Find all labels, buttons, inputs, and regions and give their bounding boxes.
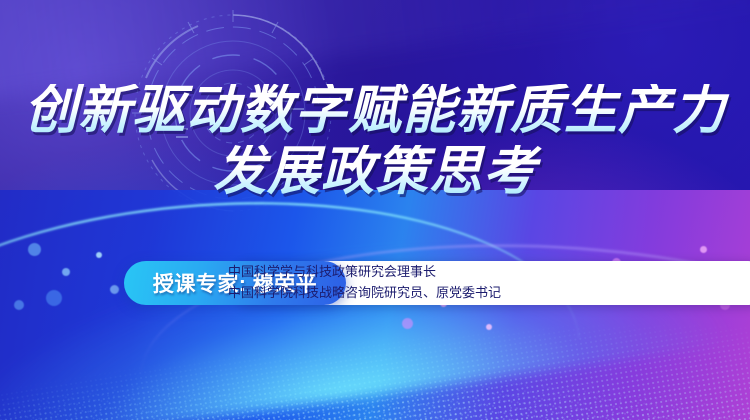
particle-dot [700,246,707,253]
particle-dot [46,290,62,306]
dot-wave-surface [0,190,750,420]
particle-dot [14,300,24,310]
credential-text: 中国科学学与科技政策研究会理事长 中国科学院科技战略咨询院研究员、原党委书记 [228,261,648,305]
banner-title: 创新驱动数字赋能新质生产力 发展政策思考 [0,84,750,199]
particle-dot [96,252,102,258]
particle-dot [402,318,413,329]
course-banner: 创新驱动数字赋能新质生产力 发展政策思考 授课专家: 穆荣平 中国科学学与科技政… [0,0,750,420]
particle-dot [486,324,492,330]
credential-line-1: 中国科学学与科技政策研究会理事长 [228,263,648,282]
particle-dot [62,268,70,276]
title-line-2: 发展政策思考 [0,145,750,200]
title-line-1: 创新驱动数字赋能新质生产力 [0,84,750,139]
particle-dot [110,285,119,294]
particle-dot [28,243,41,256]
credential-line-2: 中国科学院科技战略咨询院研究员、原党委书记 [228,284,648,303]
